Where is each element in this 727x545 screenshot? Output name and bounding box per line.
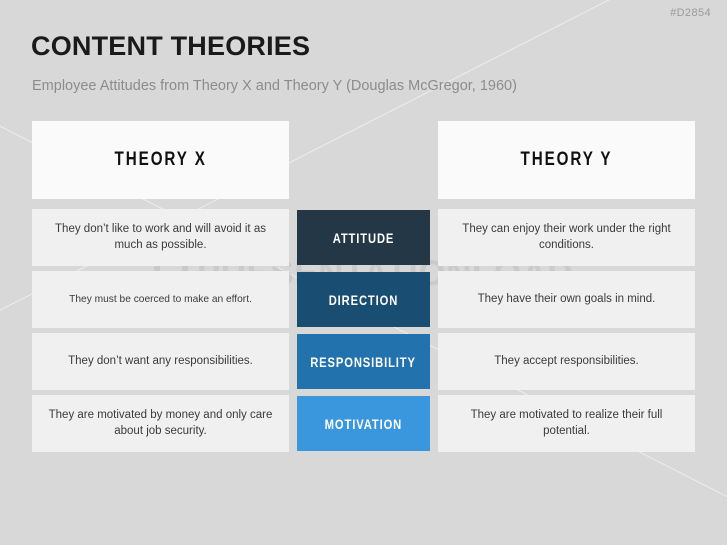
- category-label-responsibility: RESPONSIBILITY: [311, 354, 417, 370]
- category-box-motivation[interactable]: MOTIVATION: [297, 396, 430, 451]
- table-row: They don’t like to work and will avoid i…: [32, 209, 695, 266]
- category-label-motivation: MOTIVATION: [325, 416, 402, 432]
- category-label-attitude: ATTITUDE: [333, 230, 395, 246]
- column-headers: THEORY X THEORY Y: [32, 121, 695, 199]
- category-wrap-attitude: ATTITUDE: [289, 209, 438, 266]
- column-header-theory-x-label: THEORY X: [114, 149, 206, 171]
- category-label-direction: DIRECTION: [329, 292, 399, 308]
- category-wrap-motivation: MOTIVATION: [289, 395, 438, 452]
- page-title: CONTENT THEORIES: [31, 31, 310, 62]
- table-row: They are motivated by money and only car…: [32, 395, 695, 452]
- table-row: They don’t want any responsibilities. RE…: [32, 333, 695, 390]
- column-header-theory-y-label: THEORY Y: [521, 149, 613, 171]
- category-wrap-direction: DIRECTION: [289, 271, 438, 328]
- category-box-responsibility[interactable]: RESPONSIBILITY: [297, 334, 430, 389]
- category-box-direction[interactable]: DIRECTION: [297, 272, 430, 327]
- theory-x-cell-attitude: They don’t like to work and will avoid i…: [32, 209, 289, 266]
- theory-y-cell-motivation: They are motivated to realize their full…: [438, 395, 695, 452]
- theory-x-cell-responsibility: They don’t want any responsibilities.: [32, 333, 289, 390]
- theory-x-cell-motivation: They are motivated by money and only car…: [32, 395, 289, 452]
- theory-y-cell-attitude: They can enjoy their work under the righ…: [438, 209, 695, 266]
- category-wrap-responsibility: RESPONSIBILITY: [289, 333, 438, 390]
- column-header-theory-x: THEORY X: [32, 121, 289, 199]
- theory-y-cell-direction: They have their own goals in mind.: [438, 271, 695, 328]
- theory-y-cell-responsibility: They accept responsibilities.: [438, 333, 695, 390]
- category-box-attitude[interactable]: ATTITUDE: [297, 210, 430, 265]
- column-header-theory-y: THEORY Y: [438, 121, 695, 199]
- table-row: They must be coerced to make an effort. …: [32, 271, 695, 328]
- page-subtitle: Employee Attitudes from Theory X and The…: [32, 78, 517, 94]
- slide-code: #D2854: [670, 7, 711, 19]
- header-spacer: [289, 121, 438, 199]
- theory-comparison-board: THEORY X THEORY Y They don’t like to wor…: [32, 121, 695, 452]
- theory-x-cell-direction: They must be coerced to make an effort.: [32, 271, 289, 328]
